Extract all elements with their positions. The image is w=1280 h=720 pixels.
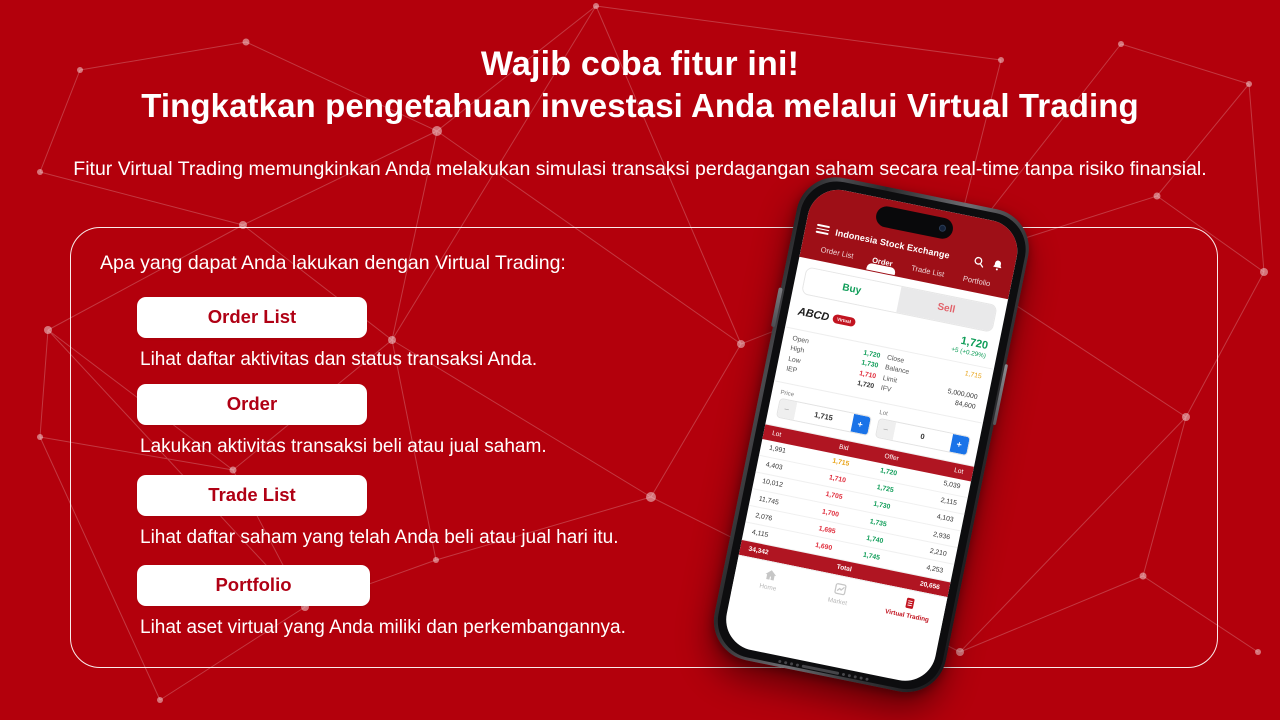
feature-item-order: Order Lakukan aktivitas transaksi beli a… (137, 384, 547, 460)
nav-label-home: Home (759, 582, 777, 592)
feature-pill-trade-list[interactable]: Trade List (137, 475, 367, 516)
feature-pill-order[interactable]: Order (137, 384, 367, 425)
phone-frame: Indonesia Stock Exchange Order List (707, 170, 1036, 699)
nav-item-market[interactable]: Market (802, 575, 876, 612)
feature-desc-portfolio: Lihat aset virtual yang Anda miliki dan … (140, 615, 626, 641)
promo-banner: Wajib coba fitur ini! Tingkatkan pengeta… (0, 0, 1280, 720)
dynamic-island (874, 204, 955, 240)
feature-item-portfolio: Portfolio Lihat aset virtual yang Anda m… (137, 565, 626, 641)
feature-item-trade-list: Trade List Lihat daftar saham yang telah… (137, 475, 619, 551)
feature-desc-order-list: Lihat daftar aktivitas dan status transa… (140, 347, 537, 373)
price-increment-button[interactable]: + (850, 413, 870, 434)
feature-desc-trade-list: Lihat daftar saham yang telah Anda beli … (140, 525, 619, 551)
nav-item-virtual-trading[interactable]: Virtual Trading (872, 589, 946, 626)
feature-pill-portfolio[interactable]: Portfolio (137, 565, 370, 606)
phone-bezel: Indonesia Stock Exchange Order List (711, 174, 1032, 695)
tab-portfolio[interactable]: Portfolio (961, 273, 991, 292)
tab-order-list[interactable]: Order List (819, 245, 854, 265)
tab-order[interactable]: Order (870, 255, 893, 273)
symbol-code: ABCD (797, 305, 831, 323)
lot-increment-button[interactable]: + (949, 433, 969, 454)
hero-title-line1: Wajib coba fitur ini! (0, 44, 1280, 84)
home-icon (763, 567, 778, 582)
feature-pill-order-list[interactable]: Order List (137, 297, 367, 338)
hero-title-line2: Tingkatkan pengetahuan investasi Anda me… (0, 86, 1280, 126)
virtual-trading-icon (902, 595, 917, 610)
feature-item-order-list: Order List Lihat daftar aktivitas dan st… (137, 297, 537, 373)
hero-subheading: Fitur Virtual Trading memungkinkan Anda … (65, 155, 1215, 183)
tab-trade-list[interactable]: Trade List (910, 263, 946, 283)
feature-panel-lead: Apa yang dapat Anda lakukan dengan Virtu… (100, 252, 566, 275)
symbol-badge: Virtual (832, 314, 856, 327)
nav-item-home[interactable]: Home (732, 561, 806, 598)
search-icon[interactable] (972, 254, 986, 268)
nav-label-market: Market (827, 596, 848, 607)
front-camera-icon (938, 224, 946, 232)
market-chart-icon (832, 581, 847, 596)
notification-bell-icon[interactable] (990, 258, 1004, 272)
feature-desc-order: Lakukan aktivitas transaksi beli atau ju… (140, 434, 547, 460)
hero-heading-group: Wajib coba fitur ini! Tingkatkan pengeta… (0, 44, 1280, 126)
phone-screen: Indonesia Stock Exchange Order List (720, 184, 1022, 686)
hamburger-menu-icon[interactable] (815, 224, 830, 236)
nav-label-virtual-trading: Virtual Trading (884, 608, 929, 624)
